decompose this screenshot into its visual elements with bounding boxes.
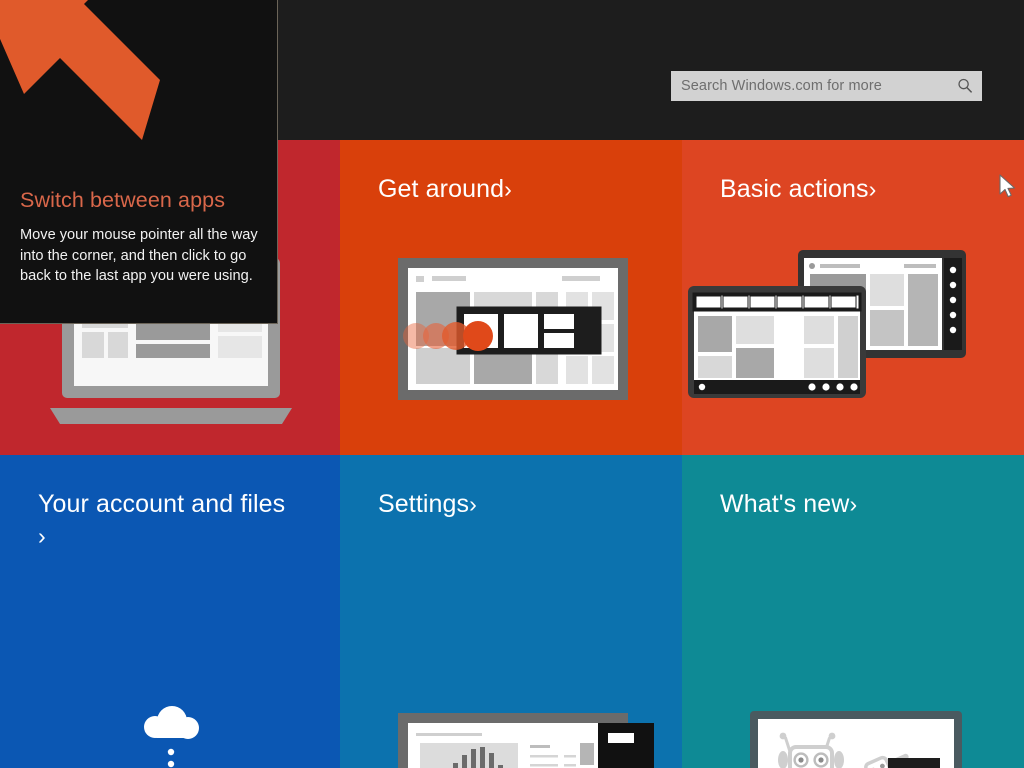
search-placeholder: Search Windows.com for more <box>681 78 956 94</box>
tooltip-body: Move your mouse pointer all the way into… <box>20 225 260 287</box>
tile-title-settings: Settings› <box>378 488 658 520</box>
tile-label: Basic actions <box>720 175 869 203</box>
search-icon[interactable] <box>956 77 974 95</box>
mouse-pointer-icon <box>998 174 1018 202</box>
chevron-right-icon: › <box>504 176 512 202</box>
tile-get-around[interactable]: Get around› <box>340 140 682 455</box>
tile-label: Your account and files <box>38 490 285 518</box>
arrow-up-left-icon <box>0 0 200 175</box>
tile-whats-new[interactable]: What's new› <box>682 455 1024 768</box>
search-input[interactable]: Search Windows.com for more <box>671 71 982 101</box>
tooltip-switch-between-apps: Switch between apps Move your mouse poin… <box>0 0 278 324</box>
tile-your-account-and-files[interactable]: Your account and files› <box>0 455 340 768</box>
tile-title-get-around: Get around› <box>378 173 658 205</box>
tile-label: Settings <box>378 490 469 518</box>
chevron-right-icon: › <box>469 491 477 517</box>
tile-title-whats-new: What's new› <box>720 488 1000 520</box>
tile-title-your-account-and-files: Your account and files› <box>38 488 316 552</box>
tile-basic-actions[interactable]: Basic actions› <box>682 140 1024 455</box>
tile-label: Get around <box>378 175 504 203</box>
chevron-right-icon: › <box>38 523 46 549</box>
chevron-right-icon: › <box>849 491 857 517</box>
tile-label: What's new <box>720 490 849 518</box>
tooltip-title: Switch between apps <box>20 188 225 213</box>
tile-title-basic-actions: Basic actions› <box>720 173 1000 205</box>
help-and-tips-app: Search Windows.com for more <box>0 0 1024 768</box>
tile-settings[interactable]: Settings› <box>340 455 682 768</box>
chevron-right-icon: › <box>869 176 877 202</box>
